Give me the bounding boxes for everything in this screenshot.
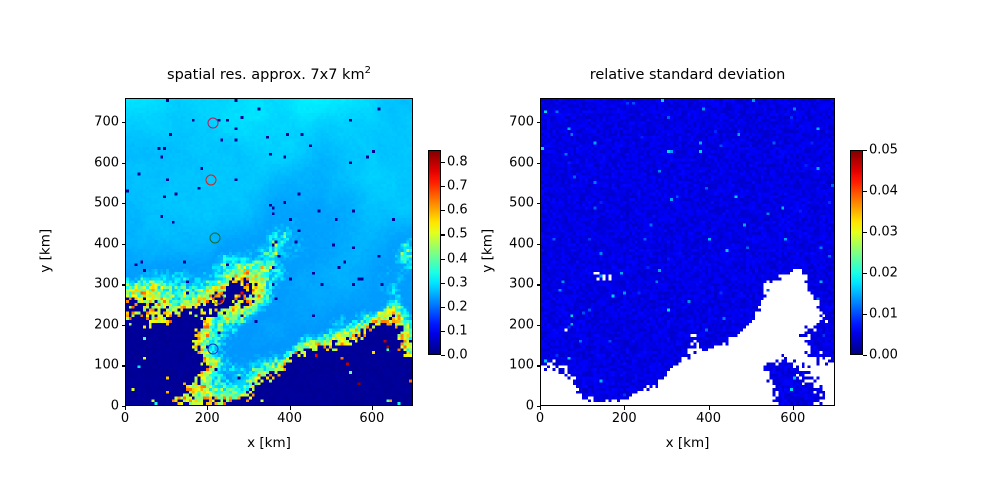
y-ticklabel-100: 100 (494, 359, 534, 372)
y-ticklabel-0: 0 (494, 400, 534, 413)
y-ticklabel-300: 300 (79, 278, 119, 291)
y-tick-400 (537, 244, 541, 245)
x-tick-0 (125, 406, 126, 410)
axis-label-y-right: y [km] (481, 171, 495, 331)
panel-title-left: spatial res. approx. 7x7 km2 (125, 68, 413, 83)
colorbar-ticklabel-3: 0.03 (869, 226, 898, 239)
heatmap-raster-right (541, 99, 834, 405)
y-tick-700 (537, 122, 541, 123)
panel-relative-standard-deviation: relative standard deviation 020040060001… (470, 0, 1000, 500)
axis-label-x-right: x [km] (540, 437, 835, 451)
axis-label-x-left: x [km] (125, 437, 413, 451)
x-ticklabel-600: 600 (780, 412, 805, 425)
y-ticklabel-700: 700 (79, 116, 119, 129)
x-ticklabel-400: 400 (277, 412, 302, 425)
x-ticklabel-600: 600 (359, 412, 384, 425)
colorbar-right (850, 150, 863, 355)
colorbar-ticklabel-1: 0.1 (447, 324, 468, 337)
x-tick-600 (372, 406, 373, 410)
colorbar-ticklabel-8: 0.8 (447, 156, 468, 169)
y-ticklabel-400: 400 (79, 237, 119, 250)
panel-title-left-superscript: 2 (365, 65, 371, 76)
colorbar-tick-5 (441, 234, 445, 235)
colorbar-tick-4 (863, 191, 867, 192)
y-ticklabel-600: 600 (494, 156, 534, 169)
heatmap-raster-left (126, 99, 412, 405)
y-ticklabel-200: 200 (494, 318, 534, 331)
colorbar-gradient-left (429, 151, 440, 354)
y-tick-200 (122, 325, 126, 326)
colorbar-ticklabel-4: 0.04 (869, 185, 898, 198)
x-ticklabel-0: 0 (536, 412, 544, 425)
y-ticklabel-200: 200 (79, 318, 119, 331)
colorbar-tick-0 (441, 355, 445, 356)
y-ticklabel-0: 0 (79, 400, 119, 413)
colorbar-ticklabel-1: 0.01 (869, 308, 898, 321)
y-tick-700 (122, 122, 126, 123)
colorbar-ticklabel-0: 0.00 (869, 349, 898, 362)
y-tick-400 (122, 244, 126, 245)
y-ticklabel-500: 500 (494, 197, 534, 210)
x-ticklabel-200: 200 (195, 412, 220, 425)
colorbar-ticklabel-7: 0.7 (447, 180, 468, 193)
axes-left[interactable] (125, 98, 413, 406)
y-ticklabel-600: 600 (79, 156, 119, 169)
colorbar-tick-1 (863, 314, 867, 315)
figure-canvas: spatial res. approx. 7x7 km2 02004006000… (0, 0, 1000, 500)
x-tick-400 (709, 406, 710, 410)
panel-spatial-resolution: spatial res. approx. 7x7 km2 02004006000… (0, 0, 470, 500)
colorbar-ticklabel-5: 0.5 (447, 228, 468, 241)
colorbar-tick-3 (863, 232, 867, 233)
y-ticklabel-100: 100 (79, 359, 119, 372)
colorbar-ticklabel-4: 0.4 (447, 252, 468, 265)
y-ticklabel-400: 400 (494, 237, 534, 250)
x-tick-600 (793, 406, 794, 410)
colorbar-tick-2 (441, 307, 445, 308)
x-tick-0 (540, 406, 541, 410)
colorbar-tick-1 (441, 331, 445, 332)
y-tick-0 (122, 406, 126, 407)
axes-right[interactable] (540, 98, 835, 406)
axis-label-y-left: y [km] (39, 171, 53, 331)
panel-title-right-text: relative standard deviation (590, 67, 786, 83)
y-tick-100 (537, 365, 541, 366)
x-tick-200 (624, 406, 625, 410)
y-tick-100 (122, 365, 126, 366)
colorbar-gradient-right (851, 151, 862, 354)
y-tick-300 (122, 284, 126, 285)
y-ticklabel-300: 300 (494, 278, 534, 291)
x-ticklabel-200: 200 (612, 412, 637, 425)
y-tick-0 (537, 406, 541, 407)
y-tick-600 (122, 163, 126, 164)
panel-title-right: relative standard deviation (540, 68, 835, 83)
colorbar-ticklabel-5: 0.05 (869, 144, 898, 157)
colorbar-left (428, 150, 441, 355)
y-tick-500 (537, 203, 541, 204)
colorbar-ticklabel-2: 0.02 (869, 267, 898, 280)
colorbar-tick-0 (863, 355, 867, 356)
colorbar-ticklabel-0: 0.0 (447, 349, 468, 362)
colorbar-ticklabel-2: 0.2 (447, 300, 468, 313)
colorbar-ticklabel-3: 0.3 (447, 276, 468, 289)
colorbar-tick-3 (441, 283, 445, 284)
x-tick-200 (207, 406, 208, 410)
colorbar-ticklabel-6: 0.6 (447, 204, 468, 217)
colorbar-tick-4 (441, 259, 445, 260)
panel-title-left-text: spatial res. approx. 7x7 km (167, 67, 365, 83)
colorbar-tick-6 (441, 210, 445, 211)
y-tick-600 (537, 163, 541, 164)
colorbar-tick-2 (863, 273, 867, 274)
y-tick-500 (122, 203, 126, 204)
x-ticklabel-400: 400 (696, 412, 721, 425)
x-tick-400 (290, 406, 291, 410)
colorbar-tick-7 (441, 186, 445, 187)
y-ticklabel-700: 700 (494, 116, 534, 129)
y-ticklabel-500: 500 (79, 197, 119, 210)
colorbar-tick-5 (863, 150, 867, 151)
colorbar-tick-8 (441, 162, 445, 163)
y-tick-300 (537, 284, 541, 285)
y-tick-200 (537, 325, 541, 326)
x-ticklabel-0: 0 (121, 412, 129, 425)
